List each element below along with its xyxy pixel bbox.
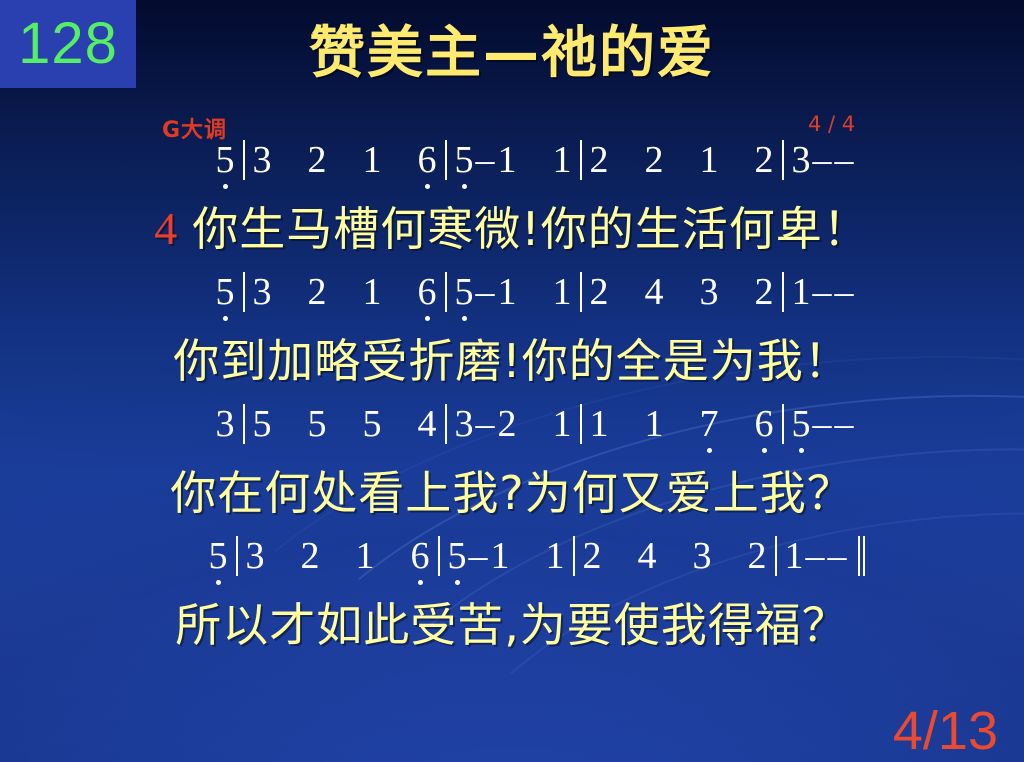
note-number: 3 (252, 272, 273, 312)
barline (243, 272, 245, 312)
note-number: 2 (300, 536, 321, 576)
barline (782, 404, 784, 444)
lyric-text: 你在何处看上我?为何又爱上我？ (170, 468, 853, 518)
note-number: 5 (215, 272, 236, 312)
note-number: 3 (692, 536, 713, 576)
note-number: 5 (454, 140, 475, 180)
barline (445, 140, 447, 180)
notation-row: 532165–1124321–– (0, 536, 1024, 592)
lyric-text: 你生马槽何寒微!你的生活何卑！ (192, 204, 869, 254)
barline (236, 536, 238, 576)
note-number: 2 (307, 272, 328, 312)
barline (580, 272, 582, 312)
note-number: 4 (417, 404, 438, 444)
note-number: 3 (454, 404, 475, 444)
barline (580, 404, 582, 444)
note-number: 2 (747, 536, 768, 576)
note-number: 5 (307, 404, 328, 444)
music-system: 532165–1122123––4你生马槽何寒微!你的生活何卑！ (0, 140, 1024, 262)
note-sustain-dash: – (812, 140, 834, 180)
barline (445, 404, 447, 444)
page-indicator: 4/13 (893, 704, 998, 758)
note-number: 3 (215, 404, 236, 444)
note-number: 2 (582, 536, 603, 576)
note-number: 2 (307, 140, 328, 180)
time-signature-label: 4 / 4 (808, 112, 855, 136)
note-number: 5 (362, 404, 383, 444)
low-octave-dot (223, 184, 228, 189)
lyric-text: 你到加略受折磨!你的全是为我！ (173, 336, 850, 386)
notation-row: 355543–2111765–– (0, 404, 1024, 460)
barline (782, 272, 784, 312)
low-octave-dot (425, 184, 430, 189)
note-number: 6 (410, 536, 431, 576)
low-octave-dot (455, 580, 460, 585)
notation-row: 532165–1124321–– (0, 272, 1024, 328)
note-number: 1 (362, 140, 383, 180)
note-number: 3 (791, 140, 812, 180)
note-sustain-dash: – (475, 140, 497, 180)
note-number: 5 (215, 140, 236, 180)
note-sustain-dash: – (834, 140, 856, 180)
note-number: 5 (791, 404, 812, 444)
barline (580, 140, 582, 180)
note-sustain-dash: – (475, 404, 497, 444)
note-number: 1 (644, 404, 665, 444)
lyric-row: 所以才如此受苦,为要使我得福？ (0, 592, 1024, 658)
note-number: 1 (589, 404, 610, 444)
lyric-row: 4你生马槽何寒微!你的生活何卑！ (0, 196, 1024, 262)
note-sustain-dash: – (468, 536, 490, 576)
note-number: 2 (754, 140, 775, 180)
note-number: 1 (545, 536, 566, 576)
note-number: 1 (552, 140, 573, 180)
lyric-row: 你到加略受折磨!你的全是为我！ (0, 328, 1024, 394)
note-number: 2 (497, 404, 518, 444)
note-sustain-dash: – (805, 536, 827, 576)
note-number: 5 (454, 272, 475, 312)
note-number: 2 (754, 272, 775, 312)
note-number: 6 (417, 140, 438, 180)
final-barline (858, 536, 860, 576)
verse-number: 4 (154, 204, 178, 254)
note-number: 1 (490, 536, 511, 576)
note-number: 1 (497, 272, 518, 312)
note-number: 2 (644, 140, 665, 180)
lyric-row: 你在何处看上我?为何又爱上我？ (0, 460, 1024, 526)
note-number: 6 (754, 404, 775, 444)
note-number: 3 (252, 140, 273, 180)
note-sustain-dash: – (834, 272, 856, 312)
note-number: 3 (699, 272, 720, 312)
low-octave-dot (799, 448, 804, 453)
low-octave-dot (462, 316, 467, 321)
music-body: 532165–1122123––4你生马槽何寒微!你的生活何卑！532165–1… (0, 140, 1024, 668)
note-number: 5 (252, 404, 273, 444)
note-number: 1 (552, 404, 573, 444)
barline (243, 404, 245, 444)
low-octave-dot (418, 580, 423, 585)
note-number: 1 (791, 272, 812, 312)
note-number: 2 (589, 272, 610, 312)
hymn-slide: 128 赞美主—祂的爱 G大调 4 / 4 532165–1122123––4你… (0, 0, 1024, 762)
note-number: 1 (784, 536, 805, 576)
note-number: 7 (699, 404, 720, 444)
page-title: 赞美主—祂的爱 (0, 26, 1024, 82)
barline (445, 272, 447, 312)
note-sustain-dash: – (812, 404, 834, 444)
note-sustain-dash: – (834, 404, 856, 444)
note-number: 1 (362, 272, 383, 312)
note-sustain-dash: – (827, 536, 849, 576)
music-system: 355543–2111765––你在何处看上我?为何又爱上我？ (0, 404, 1024, 526)
note-sustain-dash: – (475, 272, 497, 312)
notation-row: 532165–1122123–– (0, 140, 1024, 196)
barline (782, 140, 784, 180)
low-octave-dot (707, 448, 712, 453)
low-octave-dot (462, 184, 467, 189)
note-number: 2 (589, 140, 610, 180)
music-system: 532165–1124321––你到加略受折磨!你的全是为我！ (0, 272, 1024, 394)
low-octave-dot (223, 316, 228, 321)
note-number: 4 (644, 272, 665, 312)
lyric-text: 所以才如此受苦,为要使我得福？ (175, 600, 849, 650)
low-octave-dot (216, 580, 221, 585)
barline (243, 140, 245, 180)
low-octave-dot (762, 448, 767, 453)
note-sustain-dash: – (812, 272, 834, 312)
note-number: 1 (552, 272, 573, 312)
note-number: 6 (417, 272, 438, 312)
music-system: 532165–1124321––所以才如此受苦,为要使我得福？ (0, 536, 1024, 658)
barline (438, 536, 440, 576)
low-octave-dot (425, 316, 430, 321)
note-number: 3 (245, 536, 266, 576)
note-number: 4 (637, 536, 658, 576)
note-number: 5 (208, 536, 229, 576)
note-number: 1 (497, 140, 518, 180)
barline (573, 536, 575, 576)
note-number: 5 (447, 536, 468, 576)
barline (775, 536, 777, 576)
note-number: 1 (699, 140, 720, 180)
note-number: 1 (355, 536, 376, 576)
